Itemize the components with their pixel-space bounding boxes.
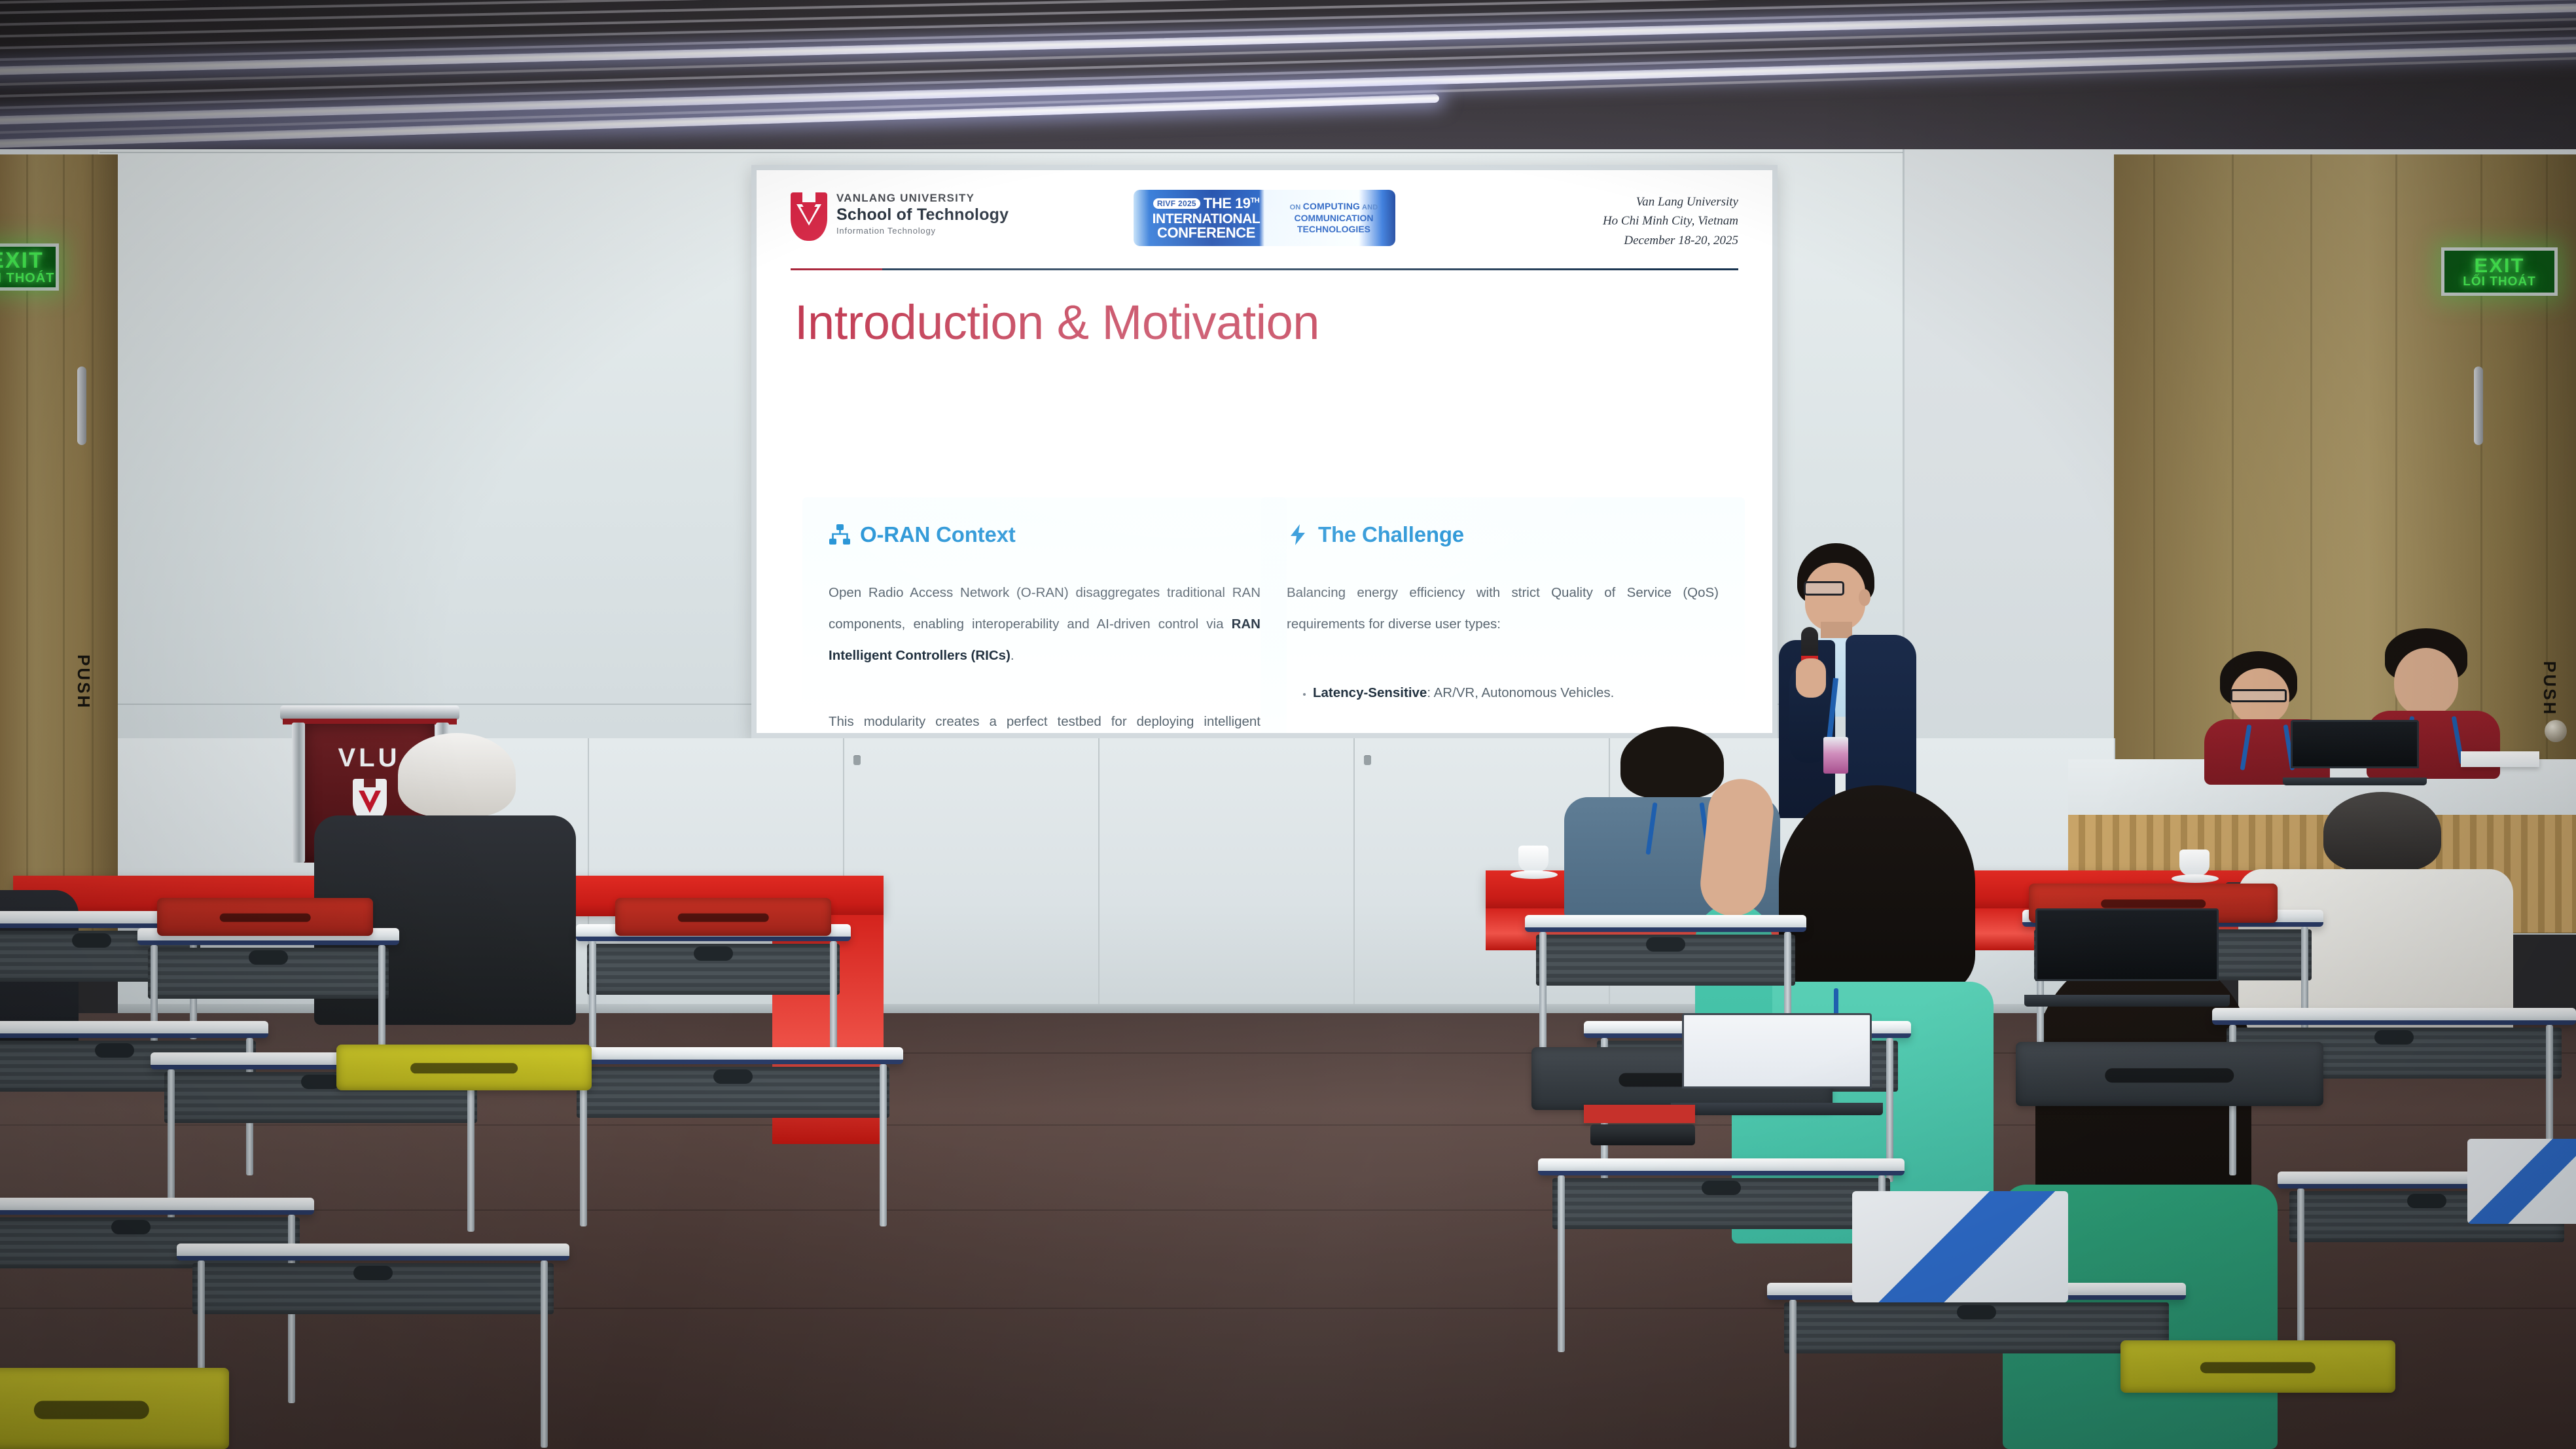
institution-name: VANLANG UNIVERSITY [836,191,1009,205]
chair-red[interactable] [615,898,831,936]
venue-block: Van Lang University Ho Chi Minh City, Vi… [1603,192,1738,250]
rivf-conference-badge: RIVF 2025 THE 19TH INTERNATIONAL CONFERE… [1134,190,1395,246]
left-door-push-label: PUSH [73,654,94,709]
exit-sign-left-line1: EXIT [0,249,44,272]
right-door-handle[interactable] [2474,367,2483,445]
desk-paper [2461,751,2539,767]
conference-tote-bag [2467,1139,2576,1224]
exit-sign-right: EXIT LỐI THOÁT [2441,247,2558,296]
panel-heading-oran: O-RAN Context [860,522,1016,547]
saucer [1511,870,1558,879]
chair-yellow[interactable] [336,1045,592,1090]
conference-topic-line3: TECHNOLOGIES [1297,224,1370,235]
department-name: Information Technology [836,224,1009,238]
oran-paragraph-2: This modularity creates a perfect testbe… [829,706,1261,733]
slide-panel-challenge: The Challenge Balancing energy efficienc… [1261,497,1745,733]
network-hierarchy-icon [829,524,851,546]
notebook-red [1584,1105,1695,1123]
cabinet-lock-icon[interactable] [1364,755,1371,765]
student-desk [576,924,851,1062]
conference-tote-bag [1852,1191,2068,1302]
vanlang-shield-icon [791,192,827,241]
institution-block: VANLANG UNIVERSITY School of Technology … [836,191,1009,238]
venue-line1: Van Lang University [1603,192,1738,211]
conference-topic-line1: ON COMPUTING AND [1290,201,1378,212]
slide-title: Introduction & Motivation [795,295,1319,350]
student-desk [177,1243,569,1449]
conference-edition: THE 19TH [1204,195,1259,212]
venue-line2: Ho Chi Minh City, Vietnam [1603,211,1738,230]
staff-laptop[interactable] [2291,720,2419,785]
cabinet-lock-icon[interactable] [853,755,861,765]
presenter [1767,543,1918,818]
oran-paragraph-1: Open Radio Access Network (O-RAN) disagg… [829,577,1261,672]
exit-sign-left: EXIT LỐI THOÁT [0,243,59,291]
presentation-slide: VANLANG UNIVERSITY School of Technology … [757,170,1772,733]
left-door-handle[interactable] [77,367,86,445]
conference-topic-line2: COMMUNICATION [1294,213,1373,224]
coffee-cup[interactable] [1518,846,1548,872]
smartphone[interactable] [1590,1124,1695,1145]
conference-room-photo: PUSH PUSH EXIT LỐI THOÁT EXIT LỐI THOÁT [0,0,2576,1449]
chair-dark[interactable] [2016,1042,2323,1106]
chair-red[interactable] [157,898,373,936]
raised-forearm [1697,776,1776,919]
list-item: Latency-Sensitive: AR/VR, Autonomous Veh… [1313,682,1719,705]
rivf-year-tag: RIVF 2025 [1153,198,1200,209]
challenge-paragraph-1: Balancing energy efficiency with strict … [1287,577,1719,640]
lightning-bolt-icon [1287,524,1309,546]
challenge-bullet-list: Latency-Sensitive: AR/VR, Autonomous Veh… [1298,682,1719,733]
slide-header-rule [791,268,1738,270]
coffee-cup[interactable] [2179,850,2209,876]
student-desk [563,1047,903,1230]
conference-line3: CONFERENCE [1157,226,1255,240]
school-name: School of Technology [836,205,1009,224]
name-badge [1823,737,1848,774]
venue-line3: December 18-20, 2025 [1603,231,1738,250]
audience-laptop[interactable] [1682,1013,1872,1115]
projection-screen: VANLANG UNIVERSITY School of Technology … [751,165,1778,738]
right-door-push-label: PUSH [2539,661,2560,716]
exit-sign-right-line1: EXIT [2475,255,2525,276]
conference-line2: INTERNATIONAL [1153,212,1261,226]
slide-panel-oran: O-RAN Context Open Radio Access Network … [802,497,1287,733]
audience-laptop[interactable] [2035,908,2219,1007]
panel-heading-challenge: The Challenge [1318,522,1464,547]
chair-yellow[interactable] [2120,1340,2395,1393]
eyeglasses-icon [1804,581,1844,596]
eyeglasses-icon [2230,689,2287,702]
exit-sign-right-line2: LỐI THOÁT [2463,276,2535,288]
ceiling [0,0,2576,152]
slide-header: VANLANG UNIVERSITY School of Technology … [791,190,1738,262]
right-door-knob[interactable] [2545,720,2567,742]
chair-dark[interactable] [0,1368,229,1449]
saucer [2172,874,2219,883]
exit-sign-left-line2: LỐI THOÁT [0,272,54,285]
